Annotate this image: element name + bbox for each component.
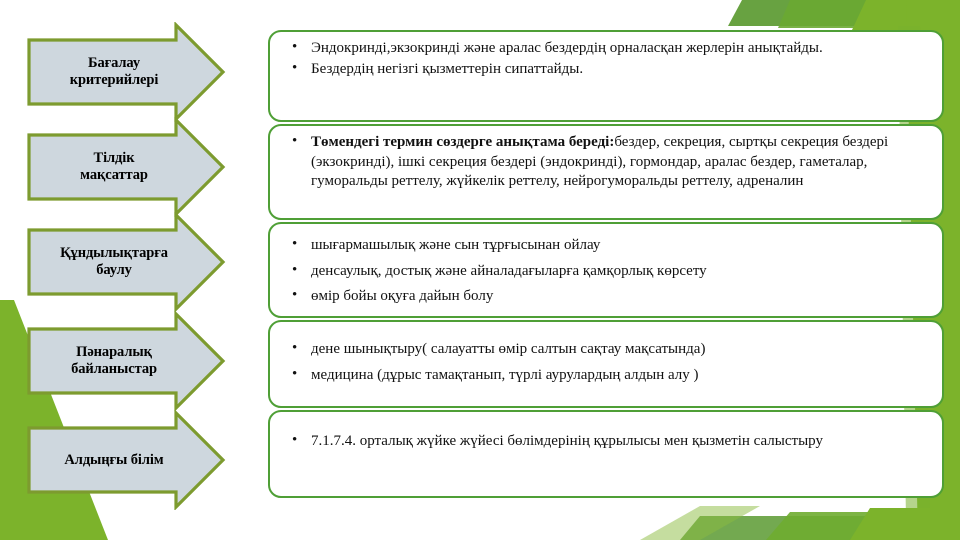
bullet-list: 7.1.7.4. орталық жүйке жүйесі бөлімдерін… xyxy=(284,432,926,452)
bullet-text: денсаулық, достық және айналадағыларға қ… xyxy=(311,263,707,279)
language-objectives-box[interactable]: Төмендегі термин сөздерге анықтама беред… xyxy=(268,124,944,220)
arrow-label: Тілдік мақсаттар xyxy=(34,150,194,184)
arrow-label-line: байланыстар xyxy=(34,361,194,378)
bullet-text: 7.1.7.4. орталық жүйке жүйесі бөлімдерін… xyxy=(311,433,823,449)
list-item: Төмендегі термин сөздерге анықтама беред… xyxy=(284,133,926,192)
arrow-label-line: Тілдік xyxy=(34,150,194,167)
arrow-item-language-objectives[interactable]: Тілдік мақсаттар xyxy=(26,117,226,217)
prior-knowledge-box[interactable]: 7.1.7.4. орталық жүйке жүйесі бөлімдерін… xyxy=(268,410,944,498)
bullet-text: Бездердің негізгі қызметтерін сипаттайды… xyxy=(311,61,583,77)
assessment-criteria-box[interactable]: Эндокринді,экзокринді және аралас бездер… xyxy=(268,30,944,122)
arrow-label-line: критерийлері xyxy=(34,72,194,89)
arrow-item-cross-curricular-links[interactable]: Пәнаралық байланыстар xyxy=(26,311,226,411)
list-item: өмір бойы оқуға дайын болу xyxy=(284,287,926,307)
arrow-label: Пәнаралық байланыстар xyxy=(34,344,194,378)
arrow-item-assessment-criteria[interactable]: Бағалау критерийлері xyxy=(26,22,226,122)
list-item: денсаулық, достық және айналадағыларға қ… xyxy=(284,262,926,282)
bullet-list: Төмендегі термин сөздерге анықтама беред… xyxy=(284,133,926,192)
list-item: Бездердің негізгі қызметтерін сипаттайды… xyxy=(284,60,926,80)
arrow-label-line: Құндылықтарға xyxy=(34,245,194,262)
bullet-text: өмір бойы оқуға дайын болу xyxy=(311,288,493,304)
arrow-label-line: мақсаттар xyxy=(34,167,194,184)
arrow-label-line: Пәнаралық xyxy=(34,344,194,361)
arrow-label: Құндылықтарға баулу xyxy=(34,245,194,279)
arrow-column: Бағалау критерийлері Тілдік мақсаттар Құ… xyxy=(0,0,240,540)
values-box[interactable]: шығармашылық және сын тұрғысынан ойлау д… xyxy=(268,222,944,318)
arrow-label-line: Алдыңғы білім xyxy=(34,452,194,469)
list-item: 7.1.7.4. орталық жүйке жүйесі бөлімдерін… xyxy=(284,432,926,452)
list-item: медицина (дұрыс тамақтанып, түрлі аурула… xyxy=(284,366,926,386)
bullet-lead-in: Төмендегі термин сөздерге анықтама беред… xyxy=(311,134,614,150)
bullet-list: Эндокринді,экзокринді және аралас бездер… xyxy=(284,39,926,79)
bullet-text: шығармашылық және сын тұрғысынан ойлау xyxy=(311,237,600,253)
arrow-label: Алдыңғы білім xyxy=(34,452,194,469)
bullet-text: медицина (дұрыс тамақтанып, түрлі аурула… xyxy=(311,367,699,383)
bullet-list: дене шынықтыру( салауатты өмір салтын са… xyxy=(284,340,926,385)
cross-curricular-links-box[interactable]: дене шынықтыру( салауатты өмір салтын са… xyxy=(268,320,944,408)
list-item: шығармашылық және сын тұрғысынан ойлау xyxy=(284,236,926,256)
arrow-label: Бағалау критерийлері xyxy=(34,55,194,89)
arrow-item-prior-knowledge[interactable]: Алдыңғы білім xyxy=(26,410,226,510)
list-item: Эндокринді,экзокринді және аралас бездер… xyxy=(284,39,926,59)
arrow-label-line: баулу xyxy=(34,262,194,279)
bullet-list: шығармашылық және сын тұрғысынан ойлау д… xyxy=(284,236,926,307)
bullet-text: Эндокринді,экзокринді және аралас бездер… xyxy=(311,40,823,56)
arrow-label-line: Бағалау xyxy=(34,55,194,72)
slide-canvas: Бағалау критерийлері Тілдік мақсаттар Құ… xyxy=(0,0,960,540)
list-item: дене шынықтыру( салауатты өмір салтын са… xyxy=(284,340,926,360)
arrow-item-values[interactable]: Құндылықтарға баулу xyxy=(26,212,226,312)
bullet-text: дене шынықтыру( салауатты өмір салтын са… xyxy=(311,341,705,357)
